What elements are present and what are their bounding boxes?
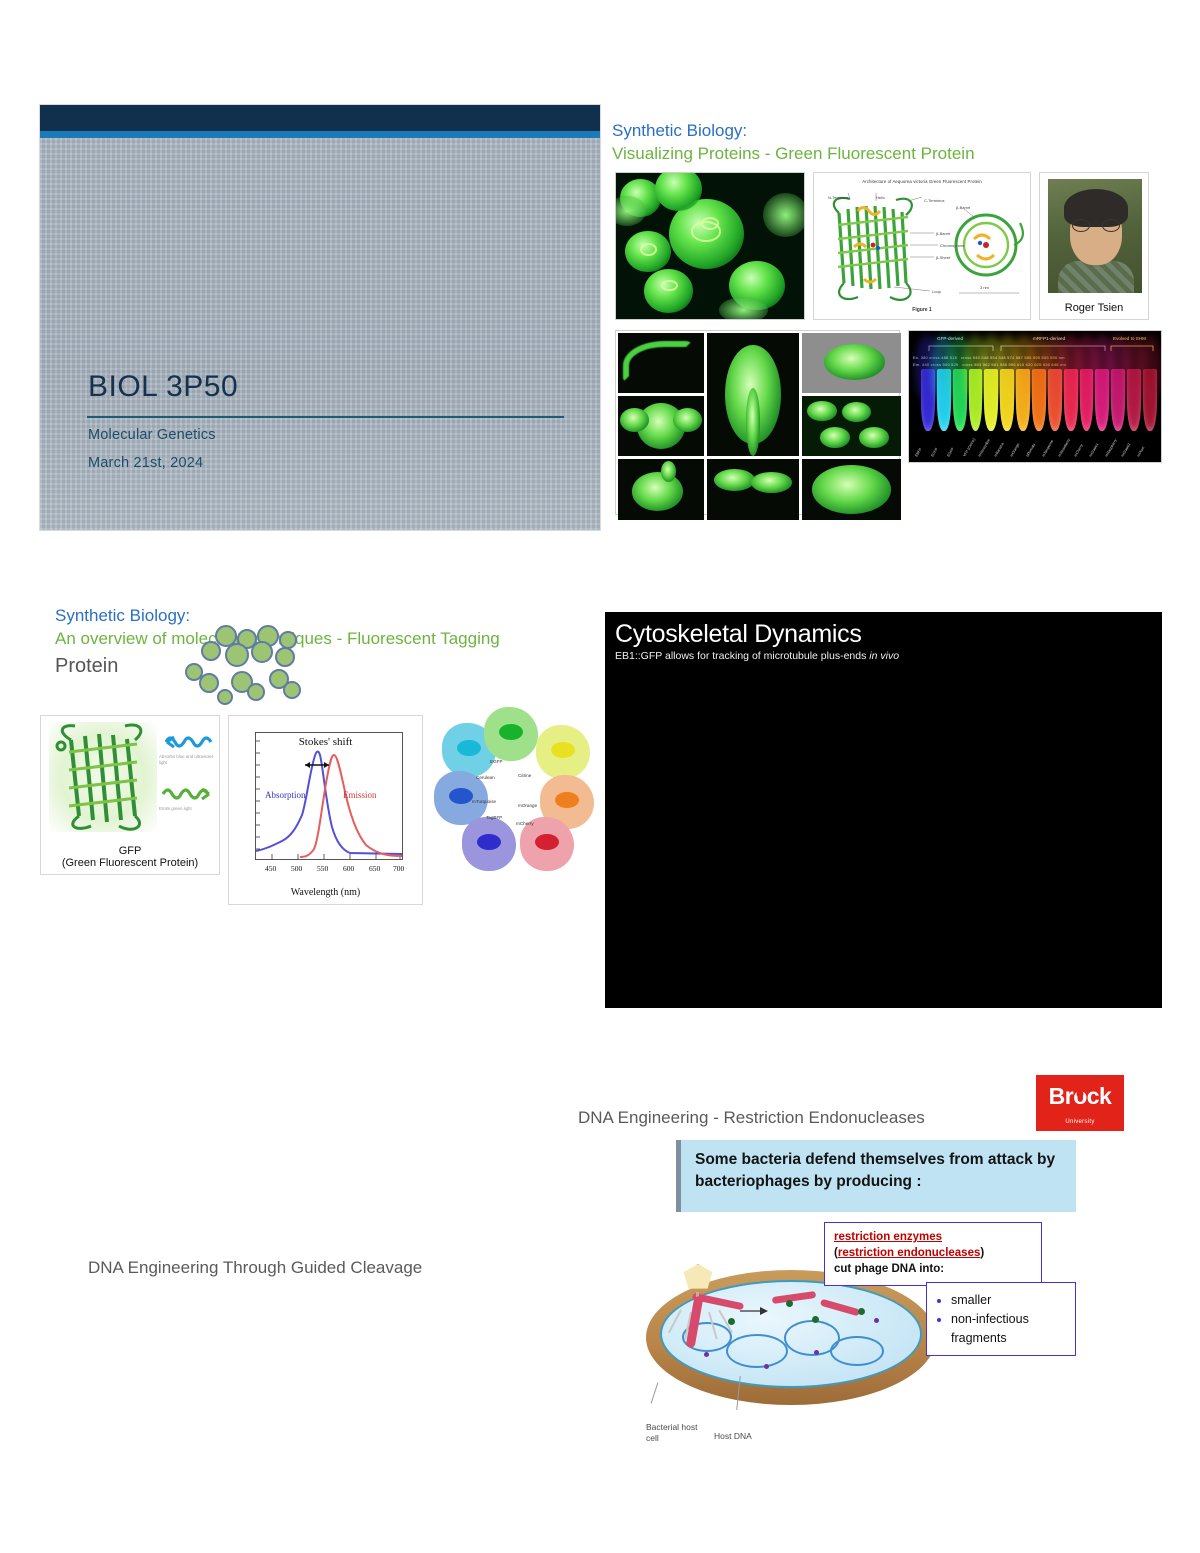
phage-dna-3 [820,1299,860,1317]
callout-red-line2: restriction endonucleases [838,1247,981,1259]
fp-variants-figure: EGFP Cerulean Citrine mTurquoise mOrange… [432,705,604,880]
variant-label-egfp: EGFP [490,759,503,764]
tag-header-line3: Protein [55,655,118,678]
cyto-subtitle-italic: in vivo [869,650,899,662]
collage-worm [618,333,704,393]
label-beta-sheet: β-Sheet [936,255,950,260]
collage-neuron [802,459,901,520]
label-beta-barrel: β-Barrel [936,231,950,236]
stokes-shift-arrow-icon [303,756,329,764]
label-chromophore: Chromophore [940,243,964,248]
callout-fragment-bullets: smaller non-infectious fragments [926,1282,1076,1356]
variant-label-morange: mOrange [518,803,537,808]
figure-label-host-cell: Bacterial host cell [646,1422,706,1443]
xtick-550: 550 [317,864,328,873]
jellyfish-photo [615,172,805,320]
label-loop: Loop [932,289,941,294]
enzyme-dot-3 [812,1316,819,1323]
slide-gfp: Synthetic Biology: Visualizing Proteins … [612,120,1162,530]
callout-paren-close: ) [980,1247,984,1259]
variant-label-tagbfp: TagBFP [486,815,502,820]
gfp-caption: GFP (Green Fluorescent Protein) [41,845,219,870]
xtick-600: 600 [343,864,354,873]
stokes-shift-chart: Stokes' shift [228,715,423,905]
leader-line-host-cell [651,1382,659,1403]
cyto-subtitle-plain: EB1::GFP allows for tracking of microtub… [615,650,869,662]
host-dna-loop-4 [830,1336,884,1366]
emit-wave-icon [159,784,215,804]
process-arrow-icon [740,1306,770,1316]
brock-university-logo: Brock University [1036,1075,1124,1131]
xtick-700: 700 [393,864,404,873]
absorb-wave-icon [159,732,215,752]
xtick-450: 450 [265,864,276,873]
fluorescent-protein-spectrum-figure: GFP-derived mRFP1-derived Evolved to SHM… [908,330,1162,463]
brock-logo-subtext: University [1036,1119,1124,1125]
slide-title: BIOL 3P50 Molecular Genetics March 21st,… [40,105,600,530]
figure-label-host-dna: Host DNA [714,1431,752,1442]
variant-egfp-structure [484,707,538,761]
gfp-figure-row-bottom: GFP-derived mRFP1-derived Evolved to SHM… [615,330,1162,518]
variant-label-cerulean: Cerulean [476,775,495,780]
collage-rabbit [618,459,704,520]
title-divider-rule [87,416,564,418]
gfp-barrel-art [49,722,157,832]
brock-logo-wordmark: Brock [1036,1083,1124,1110]
series-label-absorption: Absorption [265,790,306,800]
emit-note: Emits green light [159,806,215,812]
phage-dna-2 [772,1291,817,1304]
methyl-mark-2 [764,1364,769,1369]
slide-cytoskeletal-dynamics: Cytoskeletal Dynamics EB1::GFP allows fo… [605,612,1162,1008]
collage-fly [618,396,704,456]
host-dna-loop-2 [726,1334,788,1368]
protein-blob-cluster-icon [185,625,320,720]
enzyme-dot-2 [786,1300,793,1307]
gfp-caption-line1: GFP [41,845,219,858]
variant-label-mturquoise: mTurquoise [472,799,496,804]
methyl-mark-4 [874,1318,879,1323]
course-subtitle: Molecular Genetics [88,427,216,443]
gfp-barrel-diagram-icon [814,187,1031,307]
cyto-title: Cytoskeletal Dynamics [615,620,862,649]
methyl-mark-1 [704,1352,709,1357]
variant-label-citrine: Citrine [518,773,531,778]
gfp-header-line1: Synthetic Biology: [612,120,1162,143]
portrait-caption: Roger Tsien [1040,302,1148,314]
title-background-texture [40,138,600,530]
tag-header-line1: Synthetic Biology: [55,605,190,628]
gfp-architecture-figure: Architecture of Aequorea victoria Green … [813,172,1031,320]
gfp-architecture-title: Architecture of Aequorea victoria Green … [814,179,1030,184]
lecture-date: March 21st, 2024 [88,455,203,471]
restriction-endonuclease-figure: Some bacteria defend themselves from att… [628,1140,1083,1470]
enzyme-dot-4 [858,1308,865,1315]
slide-fluorescent-tagging: Synthetic Biology: An overview of molecu… [40,605,605,925]
label-c-terminus: C-Terminus [924,198,944,203]
bullet-non-infectious: non-infectious fragments [951,1310,1065,1348]
portrait-photo [1048,179,1142,293]
collage-tissue [802,333,901,393]
gfp-figure-row-top: Architecture of Aequorea victoria Green … [615,172,1162,320]
roger-tsien-portrait: Roger Tsien [1039,172,1149,320]
label-n-terminus: N-Terminus [828,195,848,200]
series-label-emission: Emission [343,790,377,800]
label-beta-barrel-top: β-Barrel [956,205,970,210]
callout-restriction-enzymes: restriction enzymes (restriction endonuc… [824,1222,1042,1286]
xtick-500: 500 [291,864,302,873]
bullet-smaller: smaller [951,1291,1065,1310]
cyto-subtitle: EB1::GFP allows for tracking of microtub… [615,650,899,662]
methyl-mark-3 [814,1350,819,1355]
variant-tagbfp-structure [462,817,516,871]
gfp-header-line2: Visualizing Proteins - Green Fluorescent… [612,143,1162,166]
callout-bacteria-defense: Some bacteria defend themselves from att… [676,1140,1076,1212]
gfp-organism-collage [615,330,900,515]
dna-guided-cleavage-title: DNA Engineering Through Guided Cleavage [88,1258,422,1278]
gfp-barrel-illustration: Absorbs blue and ultraviolet light Emits… [40,715,220,875]
variant-label-mcherry: mCherry [516,821,534,826]
course-code: BIOL 3P50 [88,370,238,404]
spectrum-tube-row [921,369,1157,431]
gfp-architecture-figure-number: Figure 1 [814,307,1030,313]
callout-red-line1: restriction enzymes [834,1231,942,1243]
xtick-650: 650 [369,864,380,873]
title-band-dark [40,105,600,131]
gfp-barrel-svg-icon [49,722,157,832]
label-scale-bar: 3 nm [980,285,989,290]
variant-citrine-structure [536,725,590,779]
gfp-caption-line2: (Green Fluorescent Protein) [41,857,219,870]
collage-mice [707,459,799,520]
callout-black-line: cut phage DNA into: [834,1262,1032,1278]
spectrum-protein-labels: EBFP ECFP EGFP YFP (Citrine) mHoneydew m… [921,431,1157,461]
collage-cells [802,396,901,456]
dna-restriction-endonucleases-title: DNA Engineering - Restriction Endonuclea… [578,1108,925,1128]
collage-seedlings [707,333,799,456]
absorb-note: Absorbs blue and ultraviolet light [159,754,215,765]
title-band-light [40,131,600,138]
slide-handout-page: BIOL 3P50 Molecular Genetics March 21st,… [0,0,1200,1553]
label-helix: Helix [876,195,885,200]
chart-xlabel: Wavelength (nm) [229,887,422,898]
